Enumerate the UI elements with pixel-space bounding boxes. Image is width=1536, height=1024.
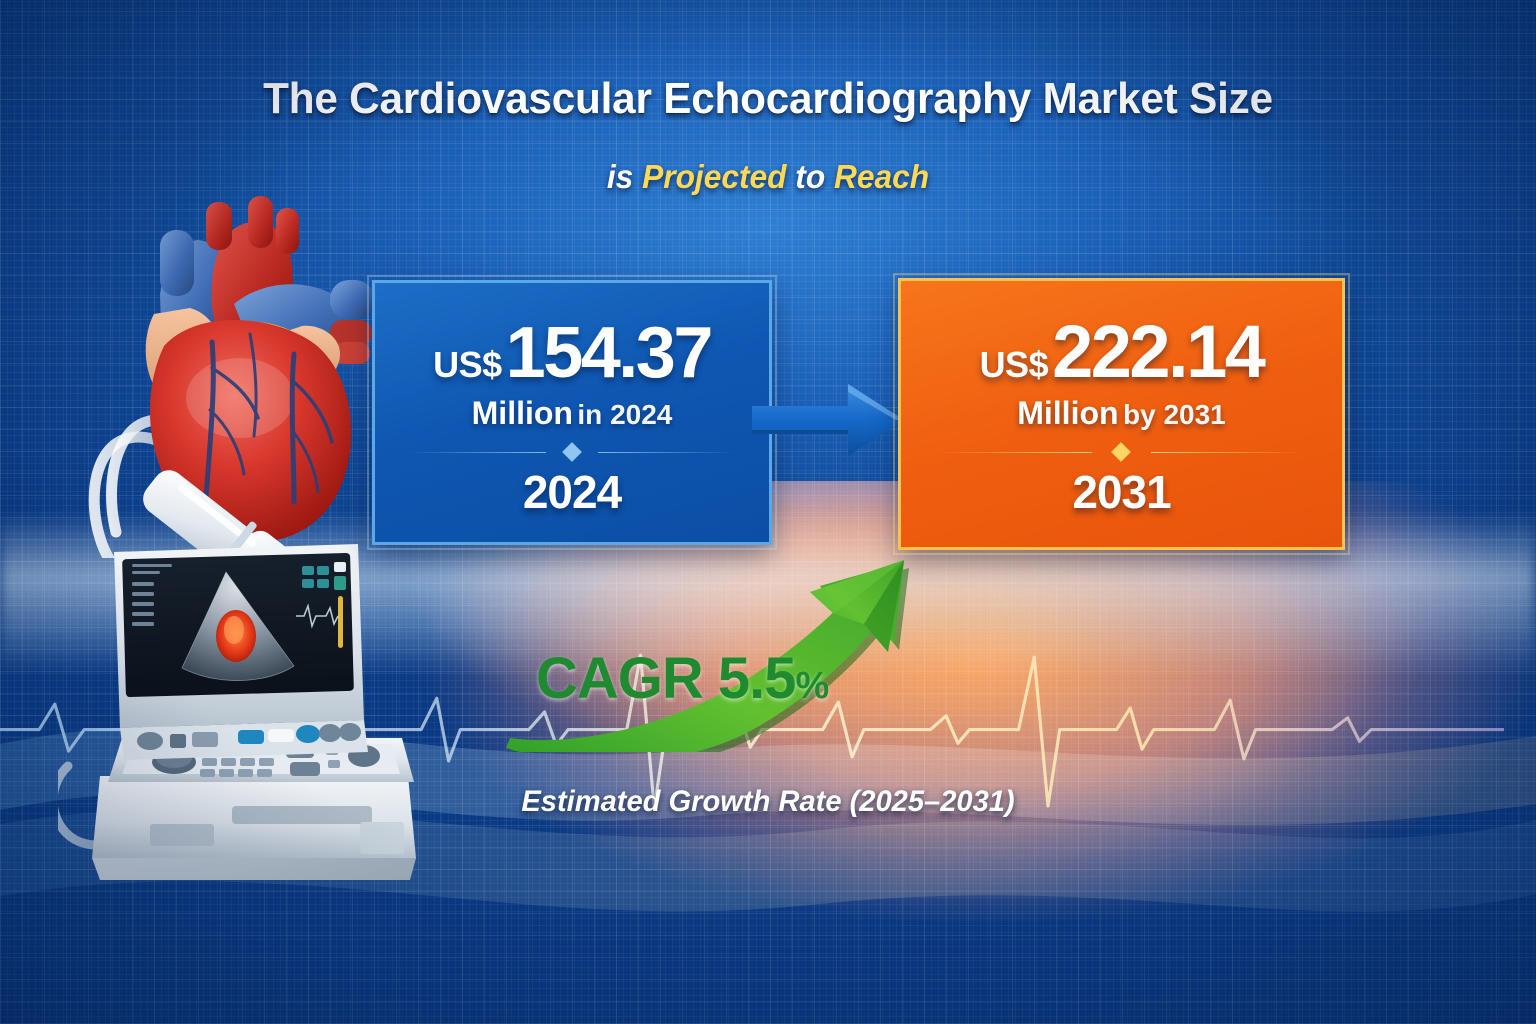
background-vignette xyxy=(0,0,1536,1024)
infographic-canvas: The Cardiovascular Echocardiography Mark… xyxy=(0,0,1536,1024)
